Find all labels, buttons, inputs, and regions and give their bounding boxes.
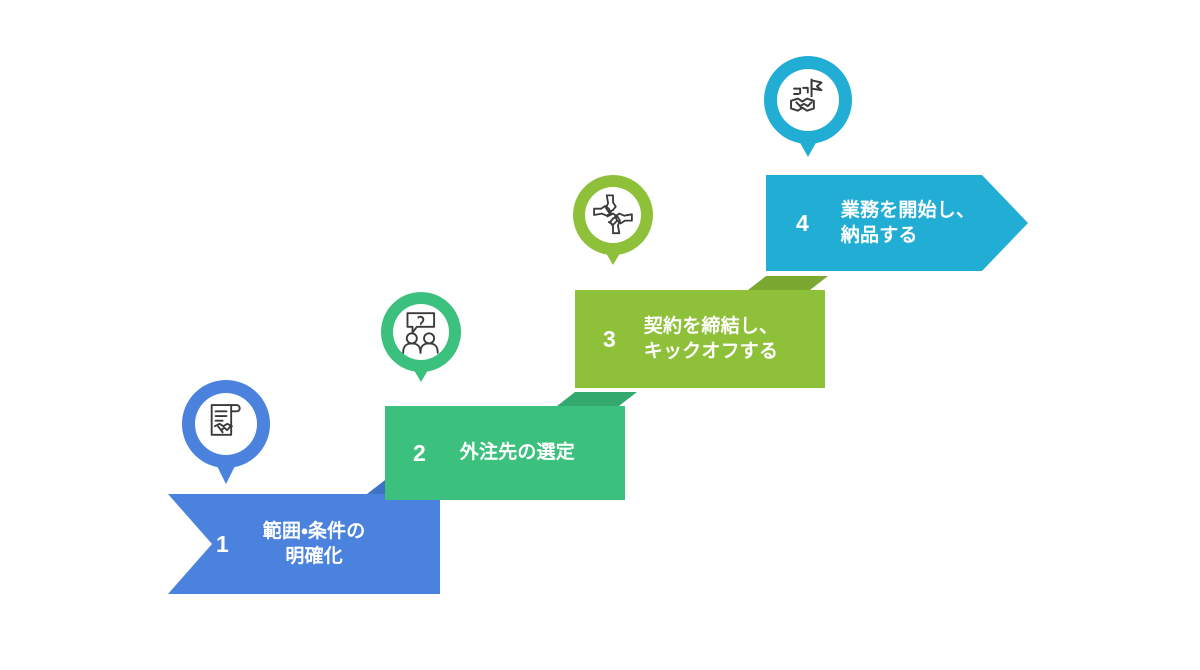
- process-diagram-canvas: 1 範囲・条件の 明確化: [0, 0, 1200, 670]
- step-4-banner-shape: [0, 0, 1200, 670]
- step-4-pin-marker[interactable]: [764, 56, 852, 158]
- step-4-pin-shape: [764, 56, 852, 158]
